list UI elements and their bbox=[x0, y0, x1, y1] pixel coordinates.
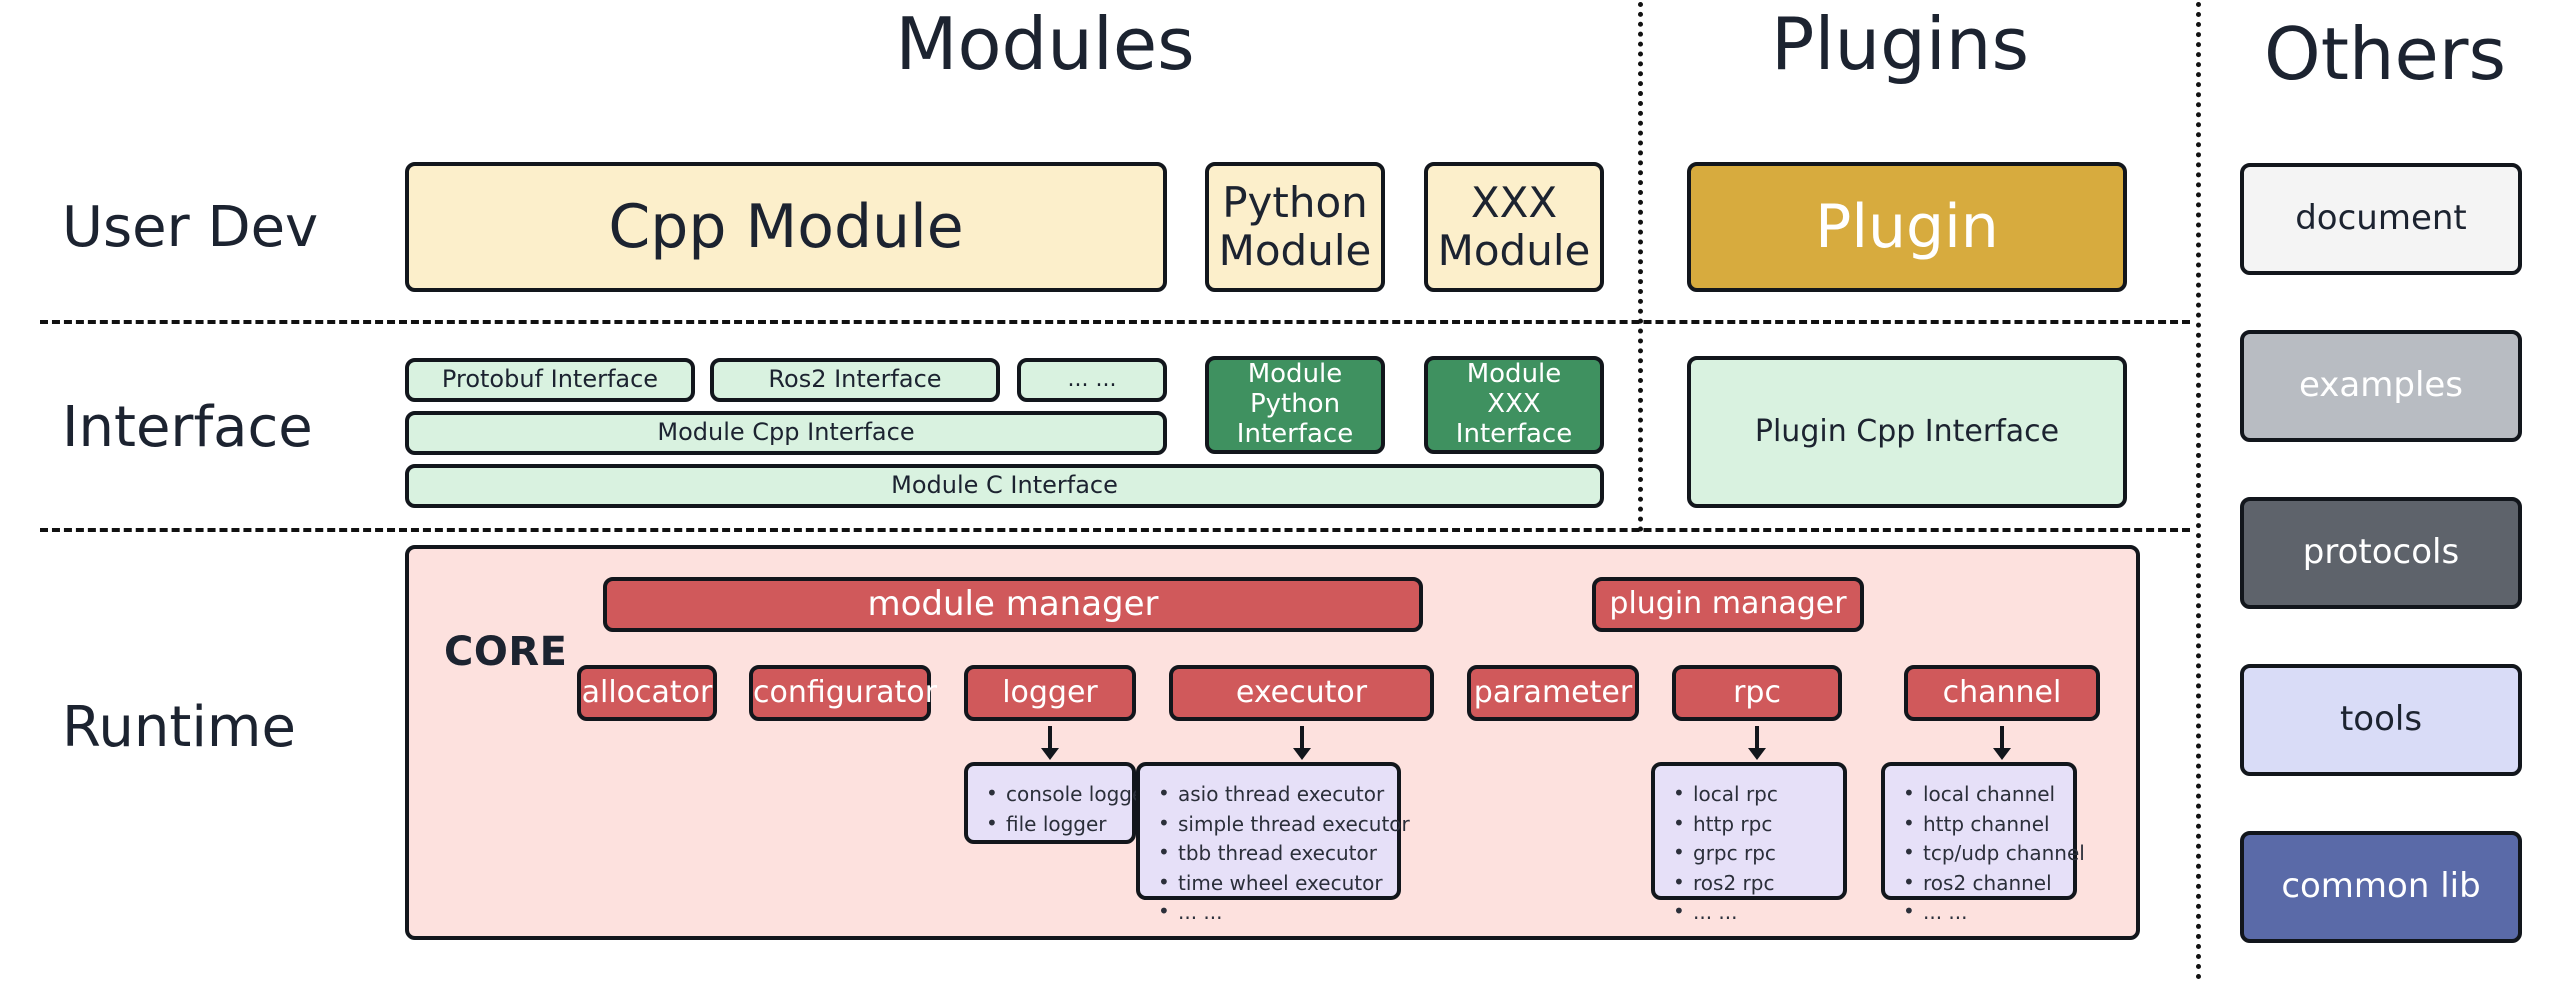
node-others-examples-label: examples bbox=[2244, 366, 2518, 405]
node-component-parameter[interactable]: parameter bbox=[1467, 665, 1639, 721]
row-label-runtime: Runtime bbox=[62, 700, 296, 756]
column-header-modules: Modules bbox=[810, 8, 1280, 80]
row-label-user-dev: User Dev bbox=[62, 200, 318, 256]
node-ros2-interface[interactable]: Ros2 Interface bbox=[710, 358, 1000, 402]
node-others-tools[interactable]: tools bbox=[2240, 664, 2522, 776]
node-module-c-interface[interactable]: Module C Interface bbox=[405, 464, 1604, 508]
detail-box-rpc: local rpchttp rpcgrpc rpcros2 rpc... ... bbox=[1651, 762, 1847, 900]
detail-list-item: file logger bbox=[1006, 810, 1153, 840]
node-python-module[interactable]: Python Module bbox=[1205, 162, 1385, 292]
column-header-plugins: Plugins bbox=[1690, 8, 2110, 80]
detail-box-logger: console loggerfile logger bbox=[964, 762, 1136, 844]
column-header-others: Others bbox=[2215, 18, 2555, 90]
node-component-executor[interactable]: executor bbox=[1169, 665, 1434, 721]
node-component-rpc-label: rpc bbox=[1676, 676, 1838, 711]
node-module-python-interface-label-line2: Python Interface bbox=[1209, 390, 1381, 450]
node-others-protocols-label: protocols bbox=[2244, 533, 2518, 572]
detail-list-item: ros2 channel bbox=[1923, 869, 2085, 899]
node-component-parameter-label: parameter bbox=[1471, 676, 1635, 711]
detail-list-logger: console loggerfile logger bbox=[984, 780, 1153, 839]
runtime-core-panel: CORE module manager plugin manager alloc… bbox=[405, 545, 2140, 940]
arrow-down-channel-icon bbox=[1989, 724, 2015, 762]
node-plugin-cpp-interface[interactable]: Plugin Cpp Interface bbox=[1687, 356, 2127, 508]
detail-box-executor: asio thread executorsimple thread execut… bbox=[1136, 762, 1401, 900]
detail-box-channel: local channelhttp channeltcp/udp channel… bbox=[1881, 762, 2077, 900]
detail-list-item: tbb thread executor bbox=[1178, 839, 1410, 869]
divider-modules-plugins bbox=[1638, 2, 1643, 532]
node-plugin-manager[interactable]: plugin manager bbox=[1592, 577, 1864, 632]
node-cpp-module[interactable]: Cpp Module bbox=[405, 162, 1167, 292]
row-label-interface: Interface bbox=[62, 400, 313, 456]
node-xxx-module-label-line2: Module bbox=[1438, 227, 1591, 275]
node-protobuf-interface-label: Protobuf Interface bbox=[409, 366, 691, 394]
arrow-down-logger-icon bbox=[1037, 724, 1063, 762]
detail-list-rpc: local rpchttp rpcgrpc rpcros2 rpc... ... bbox=[1671, 780, 1778, 928]
detail-list-item: ... ... bbox=[1178, 898, 1410, 928]
detail-list-item: console logger bbox=[1006, 780, 1153, 810]
node-ros2-interface-label: Ros2 Interface bbox=[714, 366, 996, 394]
node-plugin-label: Plugin bbox=[1691, 193, 2123, 262]
node-cpp-module-label: Cpp Module bbox=[409, 193, 1163, 262]
node-module-manager[interactable]: module manager bbox=[603, 577, 1423, 632]
divider-userdev-interface bbox=[40, 320, 2190, 324]
node-more-interface[interactable]: ... ... bbox=[1017, 358, 1167, 402]
detail-list-item: ... ... bbox=[1693, 898, 1778, 928]
detail-list-item: http rpc bbox=[1693, 810, 1778, 840]
node-component-logger-label: logger bbox=[968, 676, 1132, 711]
detail-list-item: tcp/udp channel bbox=[1923, 839, 2085, 869]
node-component-channel[interactable]: channel bbox=[1904, 665, 2100, 721]
detail-list-item: ... ... bbox=[1923, 898, 2085, 928]
node-xxx-module[interactable]: XXX Module bbox=[1424, 162, 1604, 292]
architecture-diagram: Modules Plugins Others User Dev Interfac… bbox=[0, 0, 2560, 984]
node-component-configurator[interactable]: configurator bbox=[749, 665, 931, 721]
node-module-python-interface[interactable]: Module Python Interface bbox=[1205, 356, 1385, 454]
node-component-allocator[interactable]: allocator bbox=[577, 665, 717, 721]
detail-list-item: grpc rpc bbox=[1693, 839, 1778, 869]
node-module-c-interface-label: Module C Interface bbox=[409, 472, 1600, 500]
node-module-cpp-interface[interactable]: Module Cpp Interface bbox=[405, 411, 1167, 455]
detail-list-executor: asio thread executorsimple thread execut… bbox=[1156, 780, 1410, 928]
divider-interface-runtime bbox=[40, 528, 2190, 532]
arrow-down-rpc-icon bbox=[1744, 724, 1770, 762]
node-others-examples[interactable]: examples bbox=[2240, 330, 2522, 442]
detail-list-channel: local channelhttp channeltcp/udp channel… bbox=[1901, 780, 2085, 928]
node-others-document[interactable]: document bbox=[2240, 163, 2522, 275]
node-component-channel-label: channel bbox=[1908, 676, 2096, 711]
detail-list-item: time wheel executor bbox=[1178, 869, 1410, 899]
node-plugin-cpp-interface-label: Plugin Cpp Interface bbox=[1691, 415, 2123, 450]
node-component-allocator-label: allocator bbox=[581, 676, 713, 711]
node-module-cpp-interface-label: Module Cpp Interface bbox=[409, 419, 1163, 447]
detail-list-item: asio thread executor bbox=[1178, 780, 1410, 810]
node-others-tools-label: tools bbox=[2244, 700, 2518, 739]
detail-list-item: simple thread executor bbox=[1178, 810, 1410, 840]
node-component-executor-label: executor bbox=[1173, 676, 1430, 711]
detail-list-item: ros2 rpc bbox=[1693, 869, 1778, 899]
node-component-rpc[interactable]: rpc bbox=[1672, 665, 1842, 721]
node-python-module-label-line1: Python bbox=[1222, 179, 1368, 227]
node-others-protocols[interactable]: protocols bbox=[2240, 497, 2522, 609]
node-xxx-module-label-line1: XXX bbox=[1471, 179, 1557, 227]
node-component-logger[interactable]: logger bbox=[964, 665, 1136, 721]
detail-list-item: local channel bbox=[1923, 780, 2085, 810]
node-module-manager-label: module manager bbox=[607, 585, 1419, 624]
node-more-interface-label: ... ... bbox=[1021, 367, 1163, 392]
node-plugin-manager-label: plugin manager bbox=[1596, 587, 1860, 622]
node-plugin[interactable]: Plugin bbox=[1687, 162, 2127, 292]
node-module-xxx-interface-label-line2: XXX Interface bbox=[1428, 390, 1600, 450]
node-others-common-lib-label: common lib bbox=[2244, 867, 2518, 906]
detail-list-item: http channel bbox=[1923, 810, 2085, 840]
core-label: CORE bbox=[444, 629, 567, 675]
node-module-xxx-interface[interactable]: Module XXX Interface bbox=[1424, 356, 1604, 454]
arrow-down-executor-icon bbox=[1289, 724, 1315, 762]
node-module-python-interface-label-line1: Module bbox=[1248, 360, 1343, 390]
node-others-common-lib[interactable]: common lib bbox=[2240, 831, 2522, 943]
node-protobuf-interface[interactable]: Protobuf Interface bbox=[405, 358, 695, 402]
node-module-xxx-interface-label-line1: Module bbox=[1467, 360, 1562, 390]
node-others-document-label: document bbox=[2244, 199, 2518, 238]
node-component-configurator-label: configurator bbox=[753, 676, 927, 711]
divider-plugins-others bbox=[2196, 2, 2201, 980]
detail-list-item: local rpc bbox=[1693, 780, 1778, 810]
node-python-module-label-line2: Module bbox=[1219, 227, 1372, 275]
